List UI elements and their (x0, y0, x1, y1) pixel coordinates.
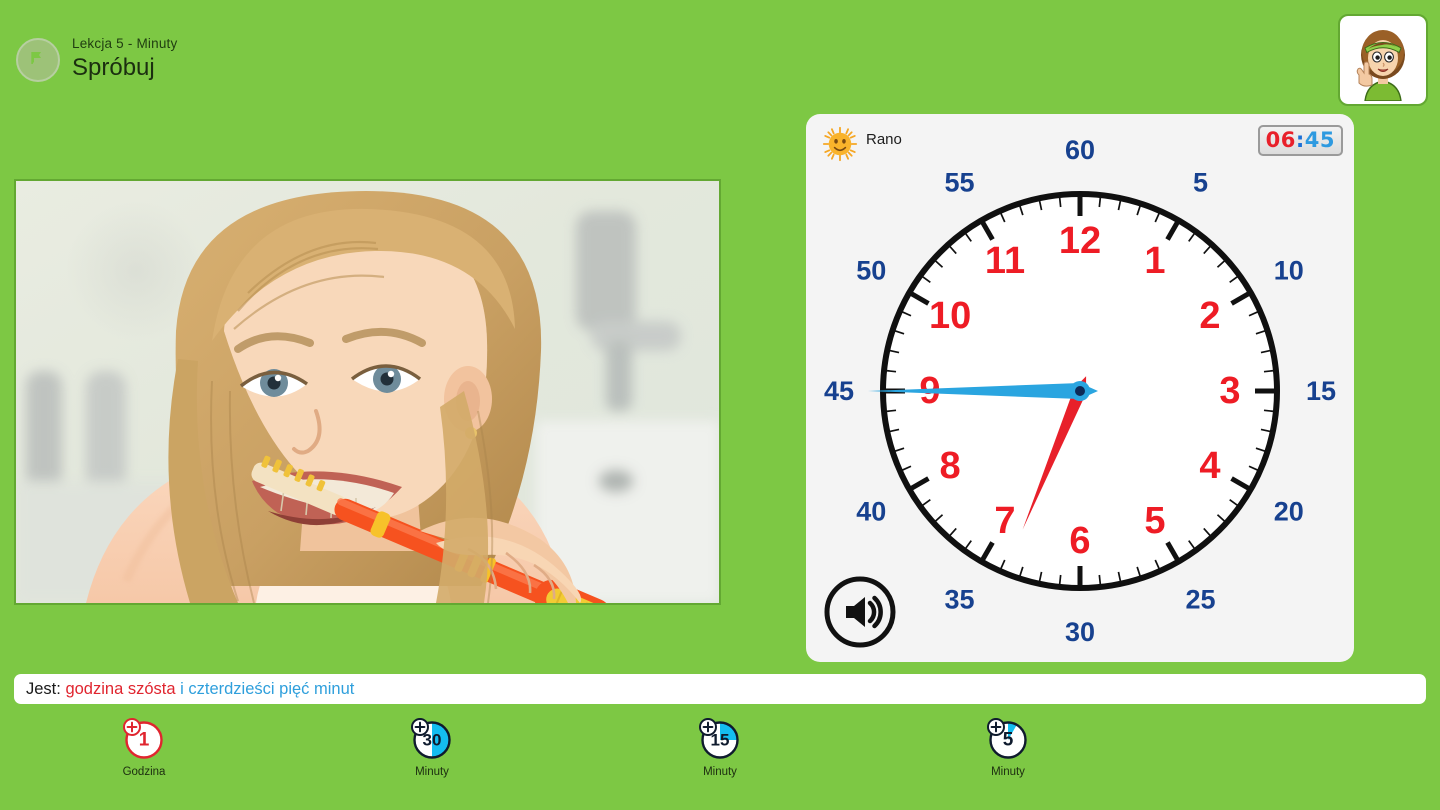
answer-prefix: Jest: (26, 680, 61, 699)
clock-hour-number: 12 (1059, 220, 1101, 262)
clock-tick-minor (1099, 575, 1100, 585)
app-header: Lekcja 5 - Minuty Spróbuj (0, 0, 1440, 110)
play-sound-button[interactable] (824, 576, 896, 648)
counter-value: 15 (711, 731, 730, 750)
clock-tick-minor (886, 410, 896, 411)
answer-sentence-bar: Jest: godzina szósta i czterdzieści pięć… (14, 674, 1426, 704)
clock-hour-number: 3 (1219, 370, 1240, 412)
clock-minute-number: 10 (1274, 256, 1304, 286)
clock-hour-number: 8 (940, 445, 961, 487)
clock-hour-number: 5 (1144, 500, 1165, 542)
clock-tick-minor (1264, 410, 1274, 411)
clock-minute-number: 60 (1065, 135, 1095, 165)
home-button[interactable] (16, 38, 60, 82)
clock-tick-minor (1264, 371, 1274, 372)
clock-minute-number: 15 (1306, 376, 1336, 406)
clock-hour-number: 11 (985, 240, 1025, 282)
tool-label: Godzina (123, 766, 166, 778)
clock-hour-number: 2 (1199, 295, 1220, 337)
circle-counter-icon: 30 (409, 716, 455, 762)
clock-minute-number: 50 (856, 256, 886, 286)
clock-center-dot (1075, 386, 1085, 396)
clock-minute-number: 20 (1274, 497, 1304, 527)
circle-counter-icon: 5 (985, 716, 1031, 762)
add-30-min-button[interactable]: 30Minuty (372, 716, 492, 778)
clock-tick-minor (1099, 197, 1100, 207)
clock-minute-number: 45 (824, 376, 854, 406)
tool-label: Minuty (415, 766, 449, 778)
answer-hour-words: godzina szósta (65, 680, 175, 699)
girl-brushing-teeth-image (16, 181, 719, 603)
add-30-min-button-icon[interactable]: 30 (409, 716, 455, 762)
clock-hour-number: 1 (1144, 240, 1165, 282)
home-flag-icon (27, 49, 49, 71)
clock-minute-number: 35 (944, 585, 974, 615)
clock-hour-number: 6 (1069, 520, 1090, 562)
clock-hour-number: 10 (929, 295, 971, 337)
add-hour-button[interactable]: 1Godzina (84, 716, 204, 778)
add-15-min-button-icon[interactable]: 15 (697, 716, 743, 762)
tool-label: Minuty (991, 766, 1025, 778)
lesson-photo (14, 179, 721, 605)
clock-tick-minor (886, 371, 896, 372)
circle-counter-icon: 15 (697, 716, 743, 762)
circle-counter-icon: 1 (121, 716, 167, 762)
clock-panel: Rano 06:45 12123456789101160510152025303… (806, 114, 1354, 662)
add-5-min-button-icon[interactable]: 5 (985, 716, 1031, 762)
clock-tick-minor (1060, 197, 1061, 207)
time-adjust-toolbar: 1Godzina30Minuty15Minuty5Minuty (0, 716, 1440, 810)
add-15-min-button[interactable]: 15Minuty (660, 716, 780, 778)
tool-label: Minuty (703, 766, 737, 778)
counter-value: 30 (423, 731, 442, 750)
page-title: Spróbuj (72, 54, 155, 82)
answer-minute-words: i czterdzieści pięć minut (180, 680, 354, 699)
clock-minute-number: 55 (944, 167, 974, 197)
clock-hour-number: 7 (994, 500, 1015, 542)
clock-minute-number: 40 (856, 497, 886, 527)
clock-minute-number: 25 (1185, 585, 1215, 615)
add-5-min-button[interactable]: 5Minuty (948, 716, 1068, 778)
breadcrumb: Lekcja 5 - Minuty (72, 36, 177, 51)
add-hour-button-icon[interactable]: 1 (121, 716, 167, 762)
counter-value: 1 (139, 730, 150, 751)
clock-minute-number: 30 (1065, 617, 1095, 647)
teacher-girl-avatar-icon (1343, 19, 1423, 101)
counter-value: 5 (1003, 730, 1014, 751)
teacher-avatar[interactable] (1340, 16, 1426, 104)
clock-hour-number: 4 (1199, 445, 1220, 487)
clock-minute-number: 5 (1193, 167, 1208, 197)
clock-tick-minor (1060, 575, 1061, 585)
